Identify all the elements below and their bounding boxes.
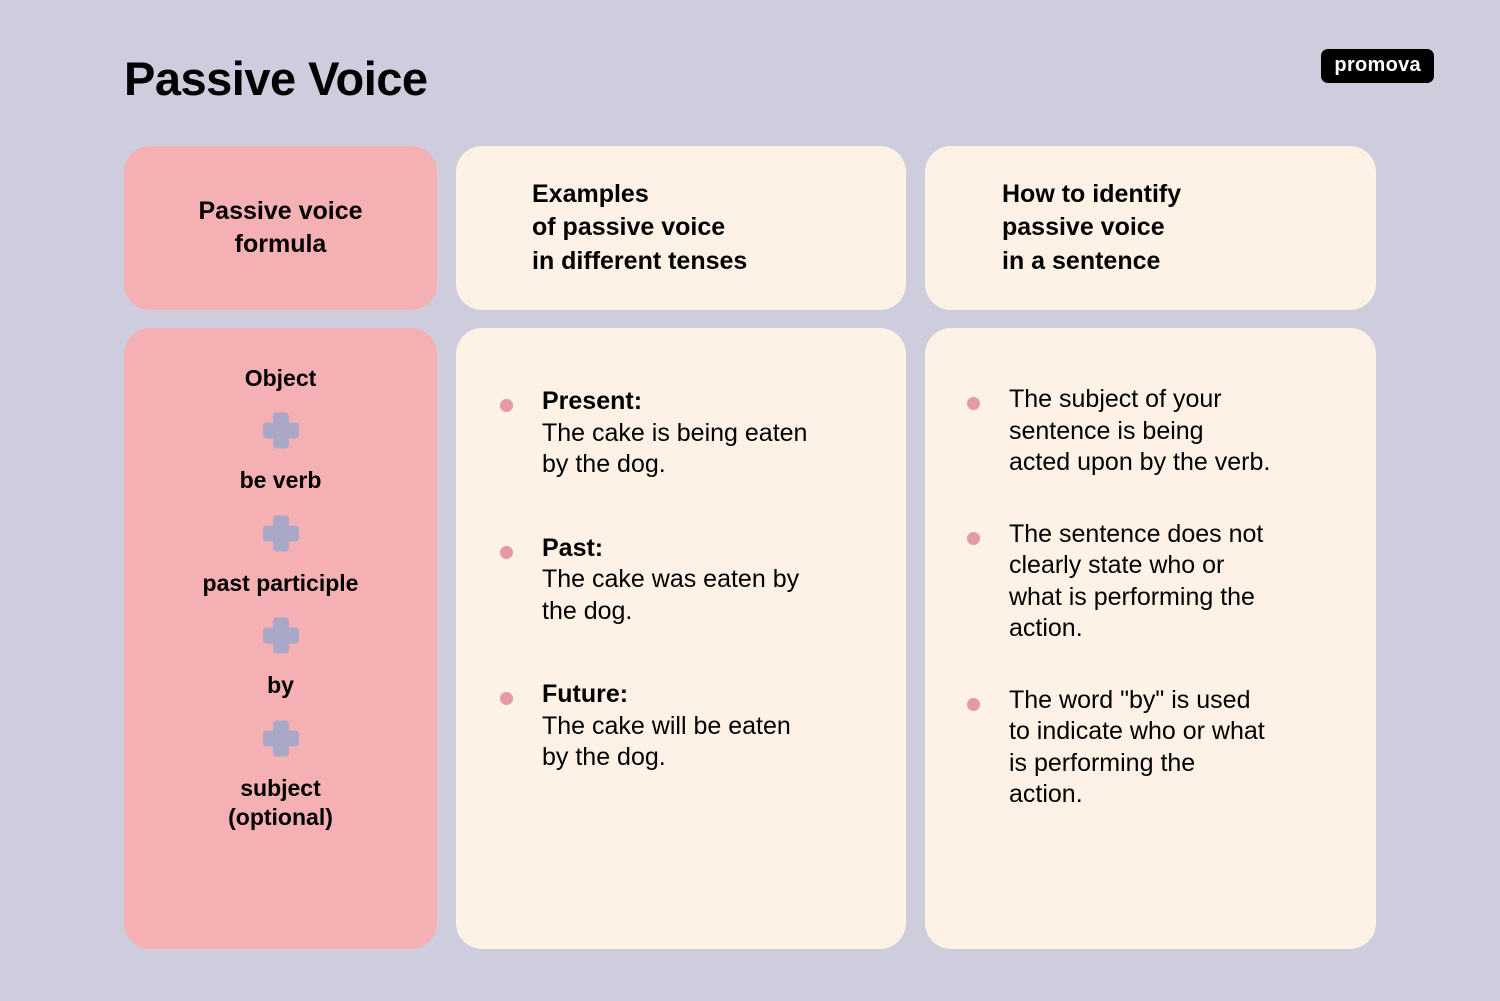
- bullet-dot-icon: [500, 399, 513, 412]
- list-item-content: Present: The cake is being eaten by the …: [542, 386, 807, 481]
- page-header: Passive Voice promova: [124, 44, 1434, 114]
- page-title: Passive Voice: [124, 44, 428, 114]
- formula-term-subject: subject (optional): [228, 774, 333, 833]
- list-item: The subject of your sentence is being ac…: [967, 384, 1350, 479]
- examples-list: Present: The cake is being eaten by the …: [456, 328, 906, 774]
- bullet-dot-icon: [967, 532, 980, 545]
- list-item-content: Future: The cake will be eaten by the do…: [542, 679, 791, 774]
- tense-label: Future:: [542, 679, 791, 711]
- plus-icon: [260, 614, 302, 656]
- list-item-content: The sentence does not clearly state who …: [1009, 519, 1263, 645]
- tense-label: Past:: [542, 533, 799, 565]
- bullet-dot-icon: [500, 546, 513, 559]
- identify-tip: The sentence does not clearly state who …: [1009, 519, 1263, 645]
- identify-column-body: The subject of your sentence is being ac…: [925, 328, 1376, 949]
- list-item: Past: The cake was eaten by the dog.: [500, 533, 886, 628]
- identify-list: The subject of your sentence is being ac…: [925, 328, 1376, 811]
- list-item: Future: The cake will be eaten by the do…: [500, 679, 886, 774]
- formula-term-by: by: [267, 671, 294, 700]
- tense-example: The cake will be eaten by the dog.: [542, 711, 791, 774]
- infographic-board: Passive voice formula Examples of passiv…: [124, 146, 1376, 936]
- plus-icon: [260, 717, 302, 759]
- heading-text: Examples of passive voice in different t…: [456, 178, 747, 279]
- tense-example: The cake was eaten by the dog.: [542, 564, 799, 627]
- formula-term-be-verb: be verb: [240, 466, 322, 495]
- list-item: The sentence does not clearly state who …: [967, 519, 1350, 645]
- list-item-content: Past: The cake was eaten by the dog.: [542, 533, 799, 628]
- column-heading-examples: Examples of passive voice in different t…: [456, 146, 906, 310]
- identify-tip: The subject of your sentence is being ac…: [1009, 384, 1270, 479]
- heading-text: Passive voice formula: [180, 195, 380, 262]
- column-heading-identify: How to identify passive voice in a sente…: [925, 146, 1376, 310]
- list-item: Present: The cake is being eaten by the …: [500, 386, 886, 481]
- plus-icon: [260, 512, 302, 554]
- bullet-dot-icon: [967, 397, 980, 410]
- promova-logo: promova: [1321, 49, 1434, 83]
- column-heading-formula: Passive voice formula: [124, 146, 437, 310]
- list-item-content: The subject of your sentence is being ac…: [1009, 384, 1270, 479]
- plus-icon: [260, 409, 302, 451]
- list-item-content: The word "by" is used to indicate who or…: [1009, 685, 1265, 811]
- bullet-dot-icon: [967, 698, 980, 711]
- examples-column-body: Present: The cake is being eaten by the …: [456, 328, 906, 949]
- list-item: The word "by" is used to indicate who or…: [967, 685, 1350, 811]
- bullet-dot-icon: [500, 692, 513, 705]
- formula-term-object: Object: [245, 364, 317, 393]
- tense-example: The cake is being eaten by the dog.: [542, 418, 807, 481]
- identify-tip: The word "by" is used to indicate who or…: [1009, 685, 1265, 811]
- formula-column-body: Object be verb past participle by subjec…: [124, 328, 437, 949]
- heading-text: How to identify passive voice in a sente…: [925, 178, 1181, 279]
- tense-label: Present:: [542, 386, 807, 418]
- formula-term-past-participle: past participle: [203, 569, 359, 598]
